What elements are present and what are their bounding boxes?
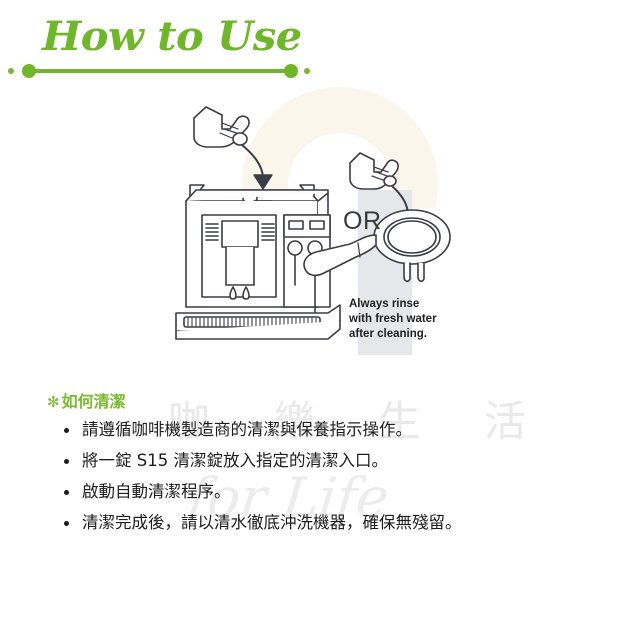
page-header: How to Use <box>0 0 640 90</box>
or-label: OR <box>343 207 382 236</box>
hand-dropping-tablet-icon <box>194 107 249 147</box>
list-item: 啟動自動清潔程序。 <box>62 481 622 503</box>
instruction-list: 請遵循咖啡機製造商的清潔與保養指示操作。 將一錠 S15 清潔錠放入指定的清潔入… <box>62 419 622 543</box>
list-item: 將一錠 S15 清潔錠放入指定的清潔入口。 <box>62 450 622 472</box>
rinse-note-line-2: with fresh water <box>349 312 479 327</box>
rinse-note-line-1: Always rinse <box>349 297 479 312</box>
title-divider <box>8 63 320 79</box>
rinse-note: Always rinse with fresh water after clea… <box>349 297 479 342</box>
section-heading-label: 如何清潔 <box>62 392 126 411</box>
arrow-down-curved-icon <box>242 145 272 189</box>
rinse-note-line-3: after cleaning. <box>349 327 479 342</box>
divider-dot-small-right <box>304 68 310 74</box>
asterisk-icon: ✻ <box>47 393 60 411</box>
list-item: 清潔完成後，請以清水徹底沖洗機器，確保無殘留。 <box>62 512 622 534</box>
section-heading: ✻如何清潔 <box>47 388 126 412</box>
divider-dot-large-right <box>284 64 298 78</box>
list-item: 請遵循咖啡機製造商的清潔與保養指示操作。 <box>62 419 622 441</box>
page-title: How to Use <box>42 14 302 60</box>
instruction-illustration: OR Always rinse with fresh water after c… <box>150 85 490 375</box>
divider-dot-small-left <box>8 68 14 74</box>
divider-line <box>34 69 292 73</box>
